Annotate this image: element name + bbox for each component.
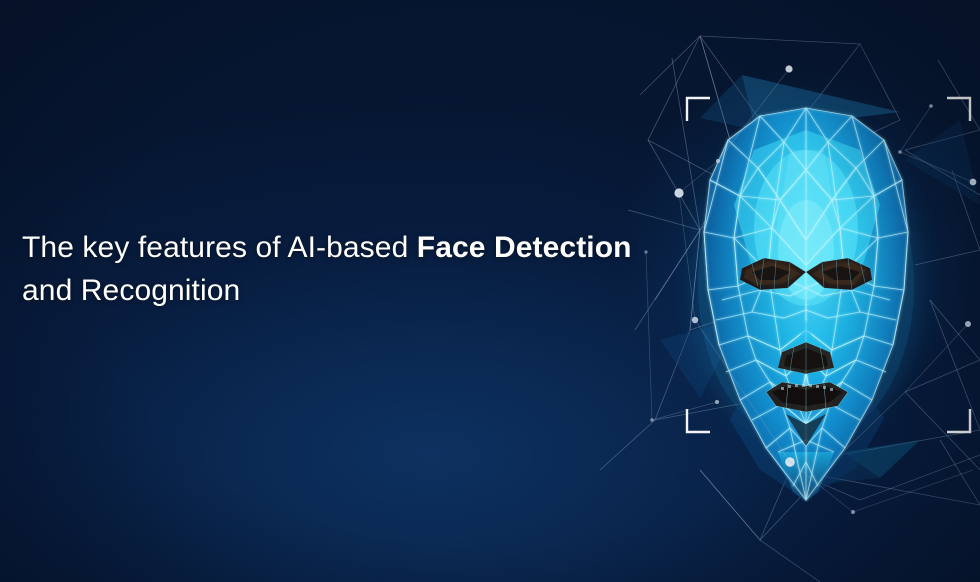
bracket-top-right bbox=[947, 98, 970, 121]
page-title-line-1: The key features of AI-based Face Detect… bbox=[22, 226, 622, 269]
page-title: The key features of AI-based Face Detect… bbox=[22, 226, 622, 312]
face-mesh bbox=[698, 108, 914, 502]
bracket-bottom-left bbox=[687, 409, 710, 432]
bracket-bottom-right bbox=[947, 409, 970, 432]
page-title-prefix: The key features of AI-based bbox=[22, 231, 417, 264]
page-title-line-2: and Recognition bbox=[22, 269, 622, 312]
slide-canvas: The key features of AI-based Face Detect… bbox=[0, 0, 980, 582]
page-title-emphasis: Face Detection bbox=[417, 231, 632, 264]
